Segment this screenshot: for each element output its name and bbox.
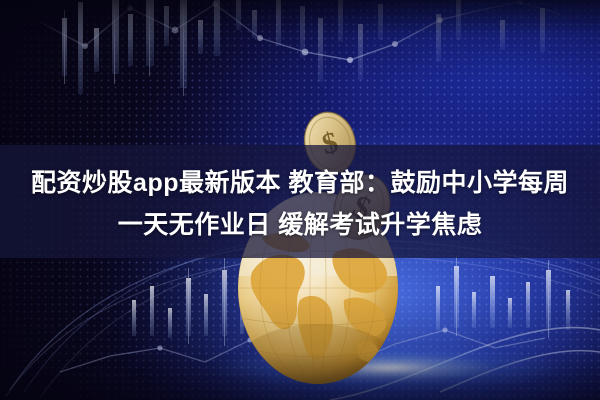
banner-image: $ $ 配资炒股app最新版本 教育部：鼓励中小学每周 一天无作业日 缓解考试升…: [0, 0, 600, 400]
headline: 配资炒股app最新版本 教育部：鼓励中小学每周 一天无作业日 缓解考试升学焦虑: [0, 145, 600, 258]
headline-line-2: 一天无作业日 缓解考试升学焦虑: [118, 205, 482, 241]
headline-line-1: 配资炒股app最新版本 教育部：鼓励中小学每周: [31, 163, 569, 199]
